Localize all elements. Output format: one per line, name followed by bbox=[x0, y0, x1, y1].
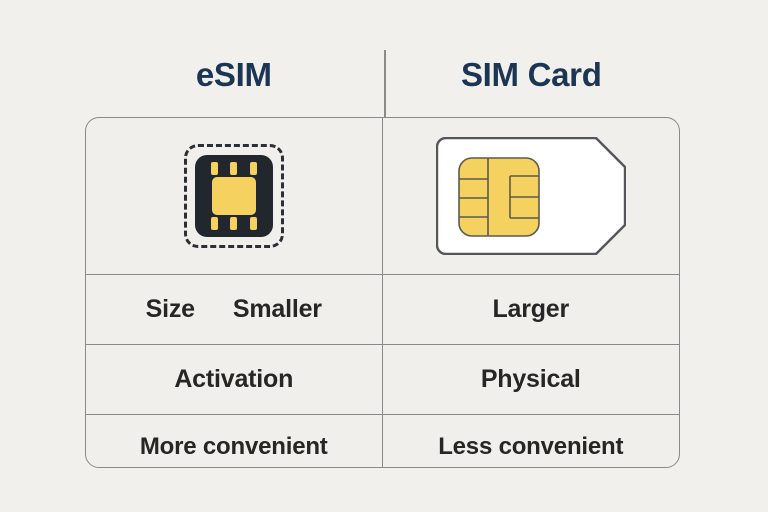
comparison-infographic: eSIM SIM Card bbox=[0, 0, 768, 512]
cell-esim-icon bbox=[86, 118, 383, 274]
row-label-size: Size bbox=[146, 295, 195, 324]
value-sim-convenience: Less convenient bbox=[438, 433, 623, 461]
column-header-esim: eSIM bbox=[85, 44, 383, 106]
esim-pin-top-1 bbox=[211, 162, 218, 175]
esim-pin-bottom-2 bbox=[230, 217, 237, 230]
comparison-table: Size Smaller Larger Activation Physical … bbox=[85, 117, 680, 468]
value-sim-size: Larger bbox=[492, 295, 569, 324]
esim-pin-bottom-1 bbox=[211, 217, 218, 230]
table-row-size: Size Smaller Larger bbox=[86, 274, 679, 344]
esim-chip-icon bbox=[184, 144, 284, 248]
cell-activation-left: Activation bbox=[86, 345, 383, 414]
cell-sim-card-icon bbox=[383, 118, 680, 274]
esim-chip-core bbox=[212, 177, 256, 215]
esim-pin-top-2 bbox=[230, 162, 237, 175]
column-headers: eSIM SIM Card bbox=[85, 44, 680, 106]
table-row-activation: Activation Physical bbox=[86, 344, 679, 414]
column-header-esim-label: eSIM bbox=[196, 56, 272, 94]
esim-pin-bottom-3 bbox=[250, 217, 257, 230]
cell-convenience-right: Less convenient bbox=[383, 415, 680, 468]
table-row-convenience: More convenient Less convenient bbox=[86, 414, 679, 468]
header-column-divider bbox=[384, 50, 386, 118]
cell-size-left: Size Smaller bbox=[86, 275, 383, 344]
table-row-icons bbox=[86, 118, 679, 274]
value-esim-size: Smaller bbox=[233, 295, 322, 324]
column-header-sim-card-label: SIM Card bbox=[461, 56, 602, 94]
sim-card-icon bbox=[436, 137, 626, 255]
cell-size-right: Larger bbox=[383, 275, 680, 344]
esim-chip-body bbox=[195, 155, 273, 237]
esim-pin-top-3 bbox=[250, 162, 257, 175]
column-header-sim-card: SIM Card bbox=[383, 44, 681, 106]
sim-contact-pad bbox=[458, 157, 540, 237]
cell-convenience-left: More convenient bbox=[86, 415, 383, 468]
value-esim-activation: Activation bbox=[174, 365, 293, 394]
size-label-value-pair: Size Smaller bbox=[146, 295, 322, 324]
value-sim-activation: Physical bbox=[481, 365, 581, 394]
value-esim-convenience: More convenient bbox=[140, 433, 328, 461]
cell-activation-right: Physical bbox=[383, 345, 680, 414]
